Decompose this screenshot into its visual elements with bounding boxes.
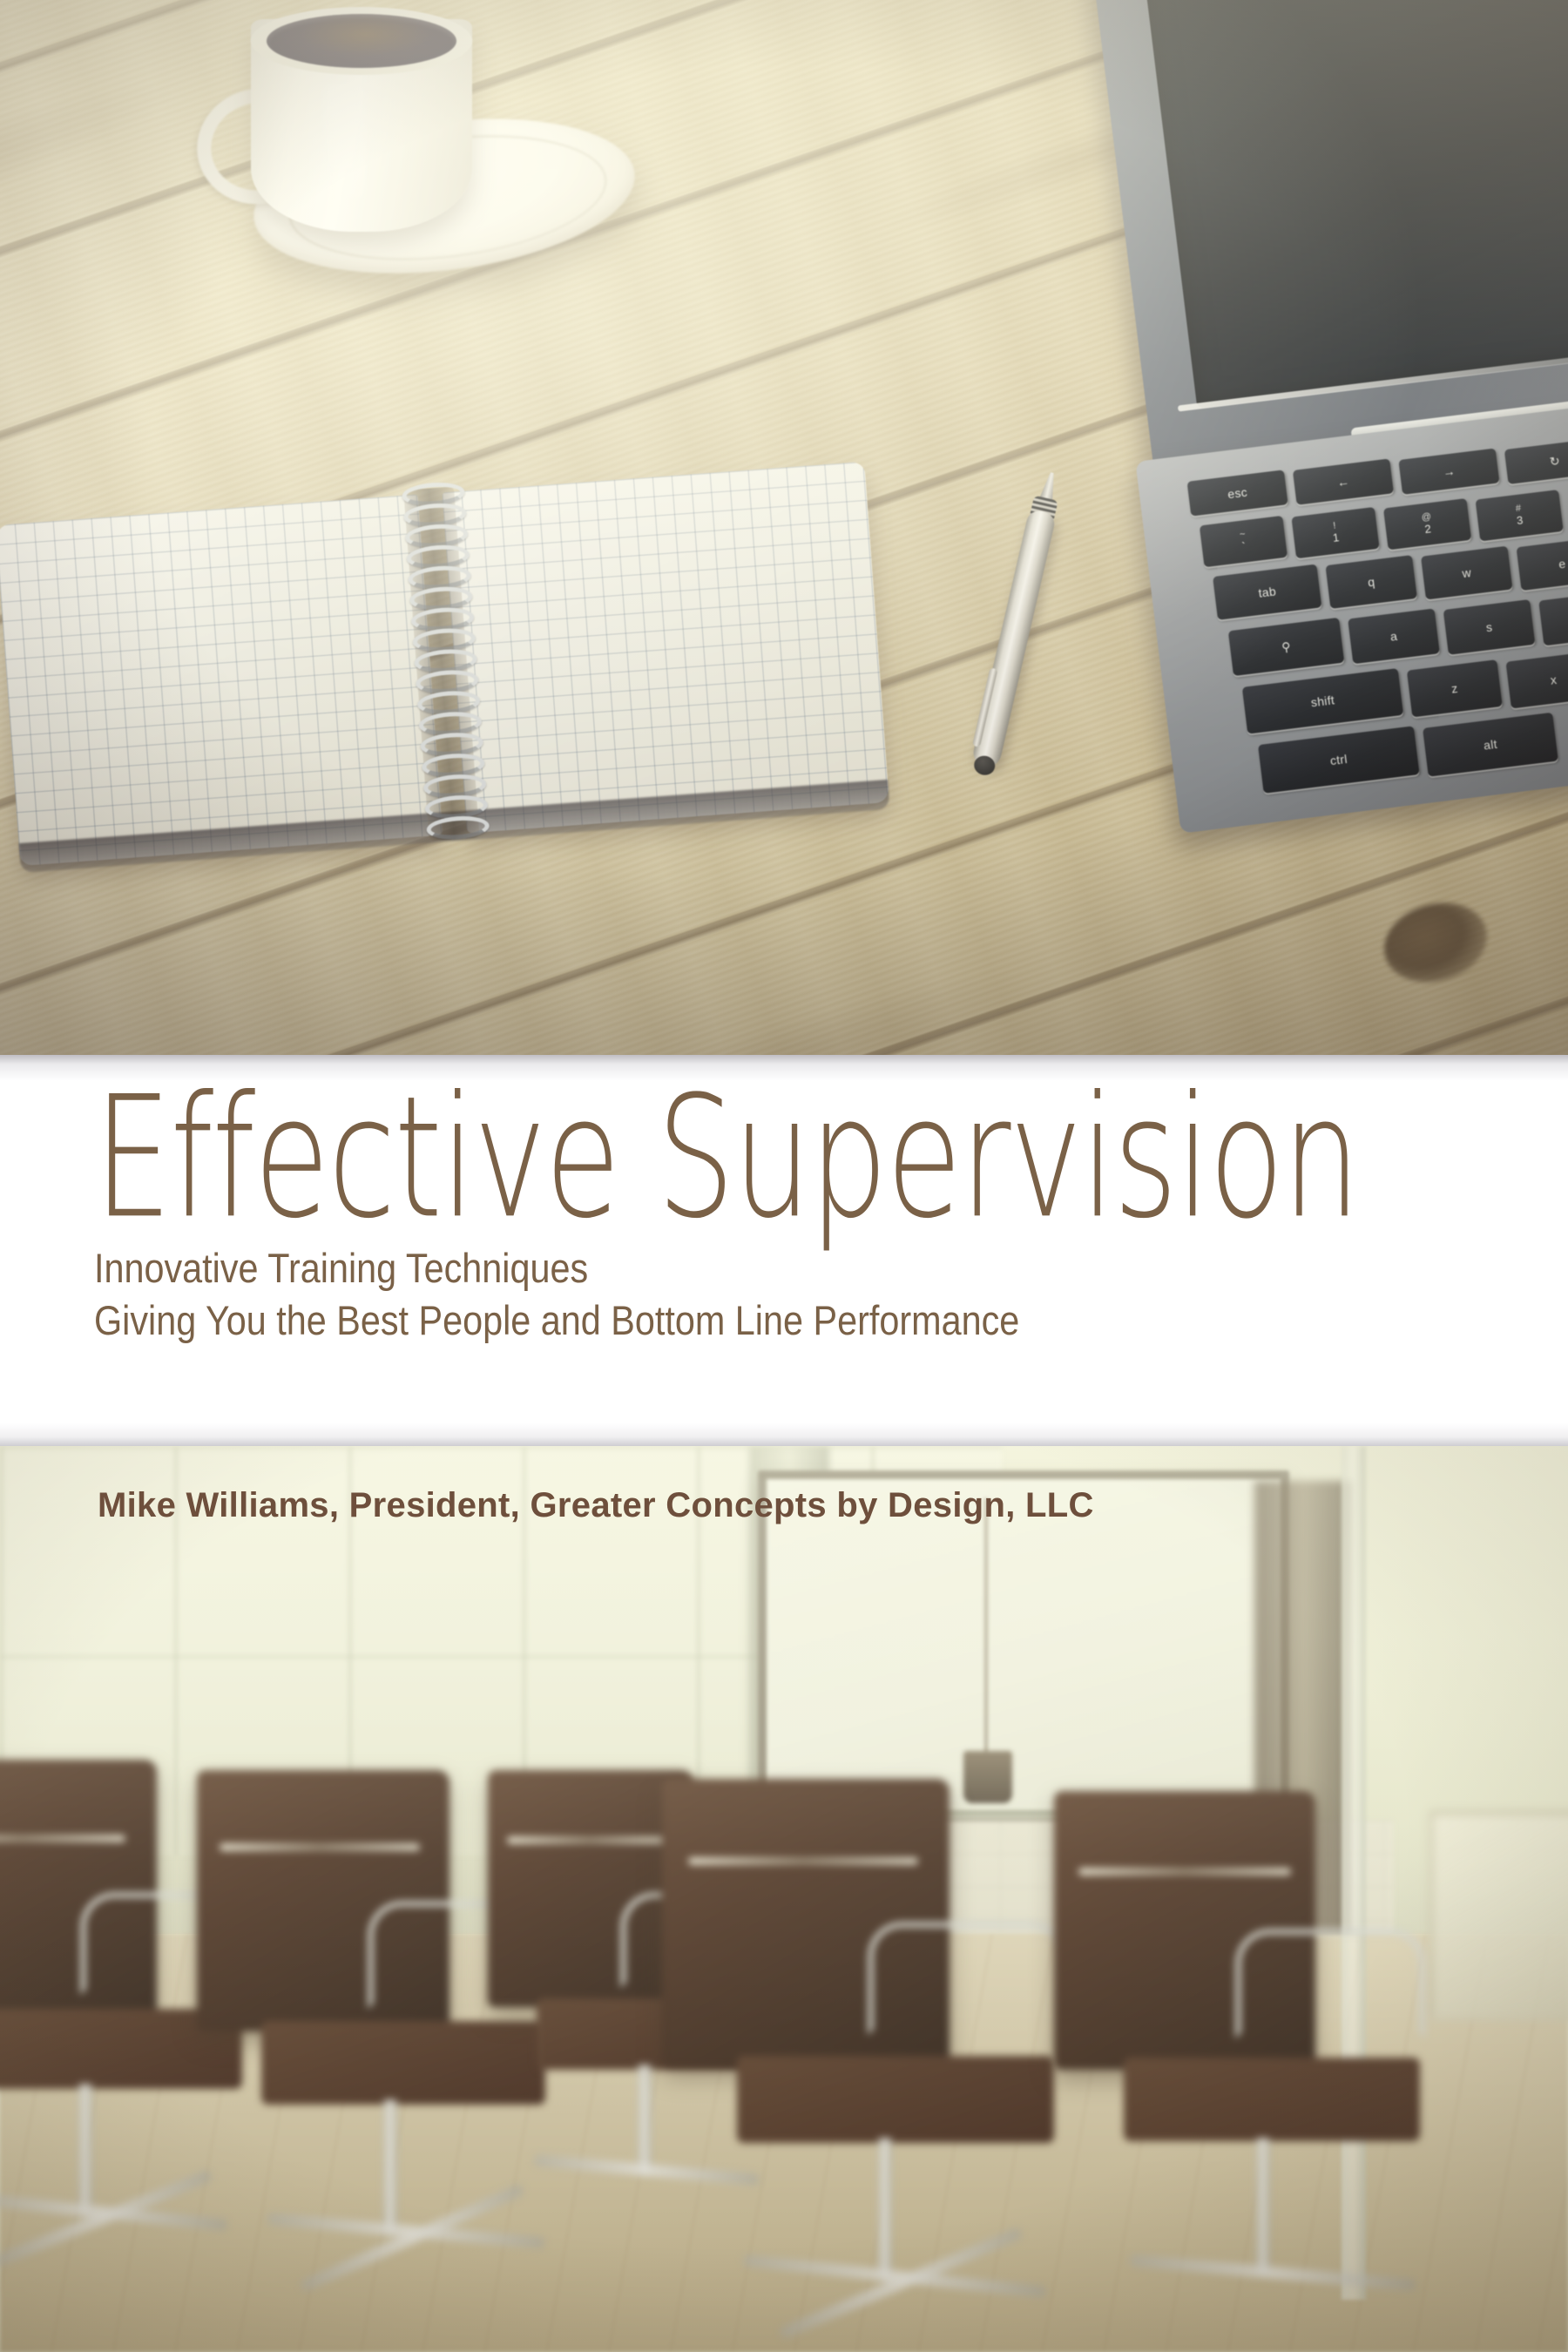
key-a: a [1348,608,1440,664]
conference-room-photo: Mike Williams, President, Greater Concep… [0,1446,1568,2352]
key-exclaim-1: !1 [1291,507,1379,558]
desk-photo: esc ← → ↻ ~` !1 @2 #3 tab q w e ⚲ a s d [0,0,1568,1055]
key-ctrl: ctrl [1258,726,1419,794]
notebook-page-left [0,495,443,867]
search-icon-key: ⚲ [1228,618,1344,676]
pendant-lamp-cord [984,1498,988,1753]
office-chair [1054,1791,1507,2352]
key-shift: shift [1242,668,1403,734]
laptop-screen [1140,0,1568,409]
title-band: Effective Supervision Innovative Trainin… [0,1055,1568,1446]
subtitle-line-1: Innovative Training Techniques [94,1247,588,1288]
key-x: x [1506,651,1568,708]
notebook-page-right [442,462,889,834]
coffee-liquid [267,14,456,68]
band-bottom-shadow [0,1423,1568,1446]
spiral-notebook [0,462,889,869]
laptop-lid [1087,0,1568,478]
key-w: w [1421,546,1512,600]
book-cover: esc ← → ↻ ~` !1 @2 #3 tab q w e ⚲ a s d [0,0,1568,2352]
key-tab: tab [1213,564,1321,620]
key-at-2: @2 [1383,498,1471,550]
key-alt: alt [1423,713,1558,777]
subtitle-line-2: Giving You the Best People and Bottom Li… [94,1300,1019,1341]
key-q: q [1325,555,1416,609]
key-s: s [1443,599,1536,655]
key-e: e [1517,537,1568,591]
cup-highlight [324,84,364,199]
key-d: d [1538,591,1568,646]
author-credit: Mike Williams, President, Greater Concep… [98,1486,1094,1525]
key-z: z [1407,659,1503,717]
page-title: Effective Supervision [94,1074,1359,1242]
key-tilde-backtick: ~` [1200,516,1288,567]
key-forward-arrow: → [1398,449,1499,495]
key-reload: ↻ [1504,438,1568,484]
key-hash-3: #3 [1476,490,1564,541]
